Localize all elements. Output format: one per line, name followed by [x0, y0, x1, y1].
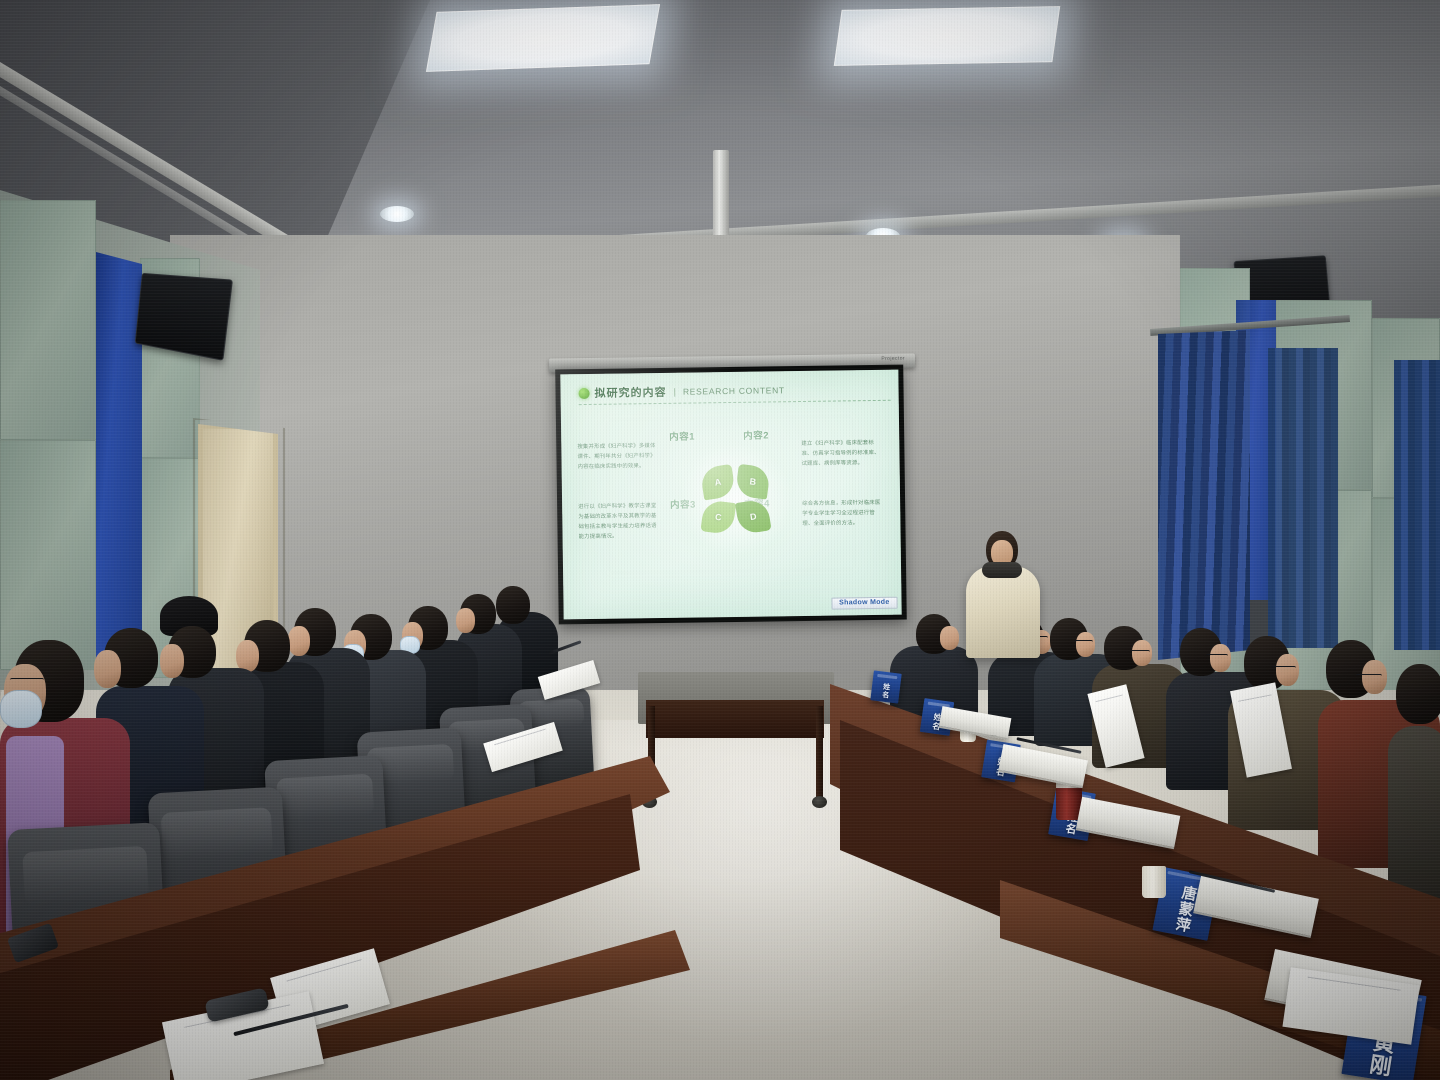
slide-title-cn: 拟研究的内容 [594, 384, 666, 401]
name-placard: 姓名 [870, 670, 901, 703]
slide-text-bottom-left: 进行以《妇产科学》教学古课堂为基础的改革水平及其教学的基础包括主教与学生能力培养… [578, 501, 661, 542]
eyeglasses-icon [1074, 640, 1093, 645]
blue-pillar-stripe [96, 252, 142, 672]
table-apron [646, 700, 824, 738]
attendee-face [288, 626, 310, 656]
attendee-face [160, 644, 184, 678]
eyeglasses-icon [10, 678, 44, 683]
ceiling-panel-light [426, 4, 660, 72]
slide-divider [579, 400, 891, 405]
clover-label-1: 内容1 [669, 428, 695, 442]
blue-curtain[interactable] [1394, 360, 1440, 650]
screen-brand-label: Projector [881, 356, 905, 362]
presenter-scarf [982, 562, 1022, 578]
attendee-head [1396, 664, 1440, 724]
attendee-face [94, 650, 121, 688]
conference-room-photo: Projector 拟研究的内容 | RESEARCH CONTENT 搜集并形… [0, 0, 1440, 1080]
attendee-torso [1388, 726, 1440, 906]
table-leg [816, 706, 823, 798]
ceiling-panel-light [834, 6, 1060, 66]
face-mask [0, 690, 42, 728]
eyeglasses-icon [1206, 654, 1228, 659]
slide-title-separator: | [673, 387, 675, 397]
presentation-slide: 拟研究的内容 | RESEARCH CONTENT 搜集并形成《妇产科学》多媒体… [560, 370, 901, 620]
slide-title-en: RESEARCH CONTENT [683, 385, 785, 396]
document-text-lines [184, 1004, 301, 1080]
document-text-lines [1095, 694, 1137, 757]
four-leaf-clover-diagram: A B C D [679, 443, 793, 557]
presenter-torso [966, 566, 1040, 658]
paper-cup [1142, 866, 1166, 898]
attendee-face [456, 608, 475, 633]
shadow-mode-watermark: Shadow Mode [831, 597, 898, 610]
table-caster [812, 796, 827, 808]
blue-curtain[interactable] [1268, 348, 1338, 648]
attendee-head [496, 586, 530, 624]
document-text-lines [1238, 694, 1283, 766]
slide-text-bottom-right: 综合各方信息，形成针对临床医学专业学生学习全过程进行管理、全面评价的方法。 [802, 498, 884, 529]
slide-text-top-left: 搜集并形成《妇产科学》多媒体课件、期刊年共分《妇产科学》内容在临床实践中的效果。 [577, 441, 659, 472]
eyeglasses-icon [1272, 666, 1296, 671]
wall-panel [0, 200, 96, 440]
wall-panel [0, 440, 96, 670]
slide-text-top-right: 建立《妇产科学》临床配套标准、仿真学习指导例的标准库、试题库、病例库等资源。 [801, 438, 883, 469]
blue-curtain[interactable] [1158, 330, 1250, 660]
eyeglasses-icon [1356, 674, 1382, 679]
eyeglasses-icon [1130, 650, 1150, 655]
attendee-face [940, 626, 959, 650]
clover-glow [663, 427, 809, 573]
green-dot-icon [578, 387, 589, 398]
ceiling-downlight [380, 206, 414, 222]
projection-screen: 拟研究的内容 | RESEARCH CONTENT 搜集并形成《妇产科学》多媒体… [555, 365, 907, 625]
slide-header: 拟研究的内容 | RESEARCH CONTENT [578, 382, 784, 401]
document-text-lines [1301, 977, 1400, 1035]
